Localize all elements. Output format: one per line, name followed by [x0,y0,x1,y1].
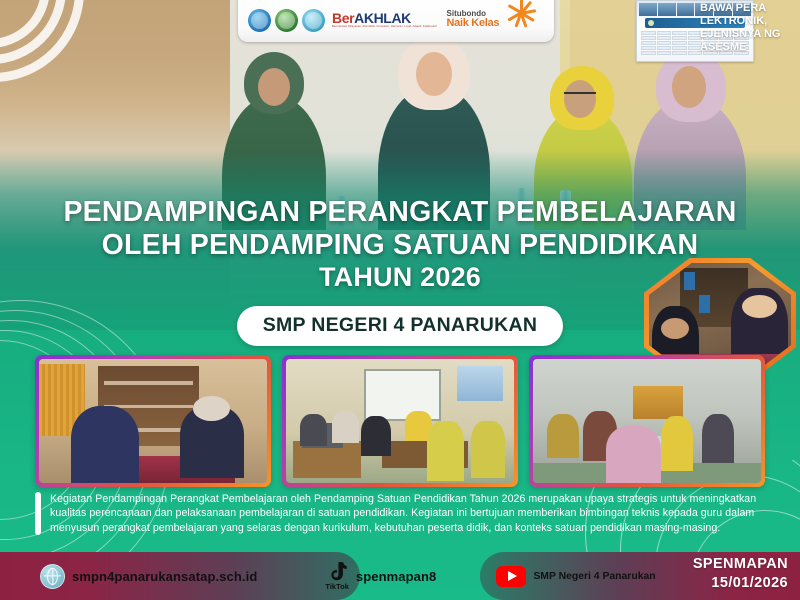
corner-arc-decoration-topleft [0,0,130,108]
website-label: smpn4panarukansatap.sch.id [72,569,257,584]
berakhlak-suffix: AKHLAK [354,10,411,26]
tut-wuri-handayani-logo-icon [248,9,271,32]
title-line-2: OLEH PENDAMPING SATUAN PENDIDIKAN [0,229,800,262]
title-line-1: PENDAMPINGAN PERANGKAT PEMBELAJARAN [0,196,800,229]
footer-bar: smpn4panarukansatap.sch.id TikTok spenma… [0,552,800,600]
kabupaten-situbondo-logo-icon [275,9,298,32]
poster-canvas: BerAKHLAK Berorientasi Pelayanan, Akunta… [0,0,800,600]
event-date: 15/01/2026 [693,574,788,593]
footer-brand-block: SPENMAPAN 15/01/2026 [693,555,788,593]
footer-website-item[interactable]: smpn4panarukansatap.sch.id [40,564,257,589]
tiktok-icon [327,561,348,584]
description-block: Kegiatan Pendampingan Perangkat Pembelaj… [35,492,765,535]
school-name-badge: SMP NEGERI 4 PANARUKAN [237,306,564,346]
berakhlak-wordmark: BerAKHLAK Berorientasi Pelayanan, Akunta… [332,11,437,29]
photo-rapat-kelas[interactable] [282,355,518,487]
globe-icon [40,564,65,589]
berakhlak-prefix: Ber [332,10,354,26]
situbondo-line2: Naik Kelas [447,18,500,30]
brand-name: SPENMAPAN [693,555,788,574]
footer-youtube-item[interactable]: SMP Negeri 4 Panarukan [496,566,655,587]
photo-konsultasi-guru[interactable] [35,355,271,487]
photo-lab-komputer[interactable] [529,355,765,487]
wall-poster-headline: BAWA PERA LEKTRONIK, EJENISNYA NG ASESME [700,2,800,54]
berakhlak-tagline: Berorientasi Pelayanan, Akuntabel, Kompe… [332,26,437,29]
description-accent-bar [35,492,41,535]
sunburst-icon [504,0,538,30]
photo-gallery-row [35,355,765,487]
youtube-channel-label: SMP Negeri 4 Panarukan [533,571,655,582]
situbondo-wordmark: Situbondo Naik Kelas [447,10,500,30]
sekolah-logo-icon [302,9,325,32]
footer-tiktok-item[interactable]: TikTok spenmapan8 [325,561,436,591]
youtube-icon [496,566,526,587]
tiktok-handle-label: spenmapan8 [356,569,436,584]
description-text: Kegiatan Pendampingan Perangkat Pembelaj… [50,492,765,535]
berakhlak-banner: BerAKHLAK Berorientasi Pelayanan, Akunta… [238,0,554,42]
tiktok-note-label: TikTok [325,582,348,591]
